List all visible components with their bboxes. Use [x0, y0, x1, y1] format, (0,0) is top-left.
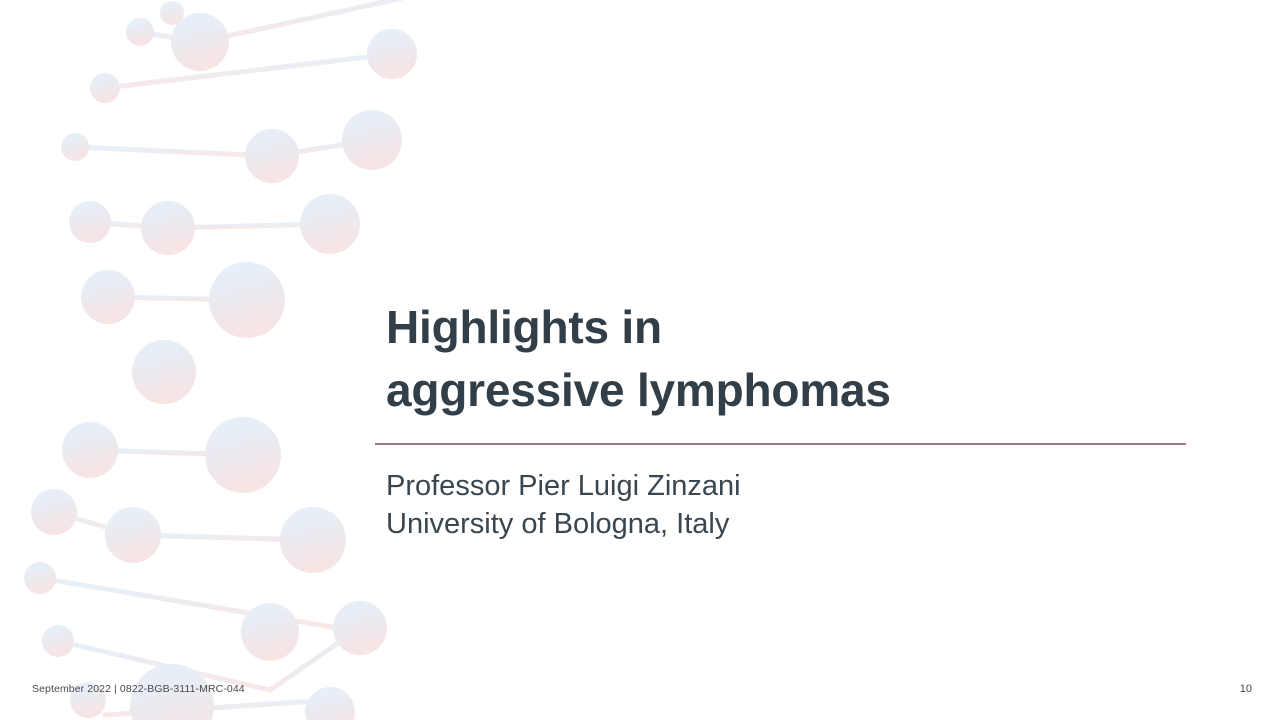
slide-page-number: 10 [1240, 683, 1252, 695]
slide-canvas: Highlights in aggressive lymphomas Profe… [0, 0, 1280, 720]
page-title: Highlights in aggressive lymphomas [386, 296, 1186, 423]
slide-text-block: Highlights in aggressive lymphomas Profe… [386, 296, 1186, 543]
slide-subtitle: Professor Pier Luigi Zinzani University … [386, 467, 1186, 544]
molecular-chain-graphic [0, 0, 430, 720]
footer-reference-code: September 2022 | 0822-BGB-3111-MRC-044 [32, 683, 245, 695]
title-divider [375, 443, 1186, 445]
